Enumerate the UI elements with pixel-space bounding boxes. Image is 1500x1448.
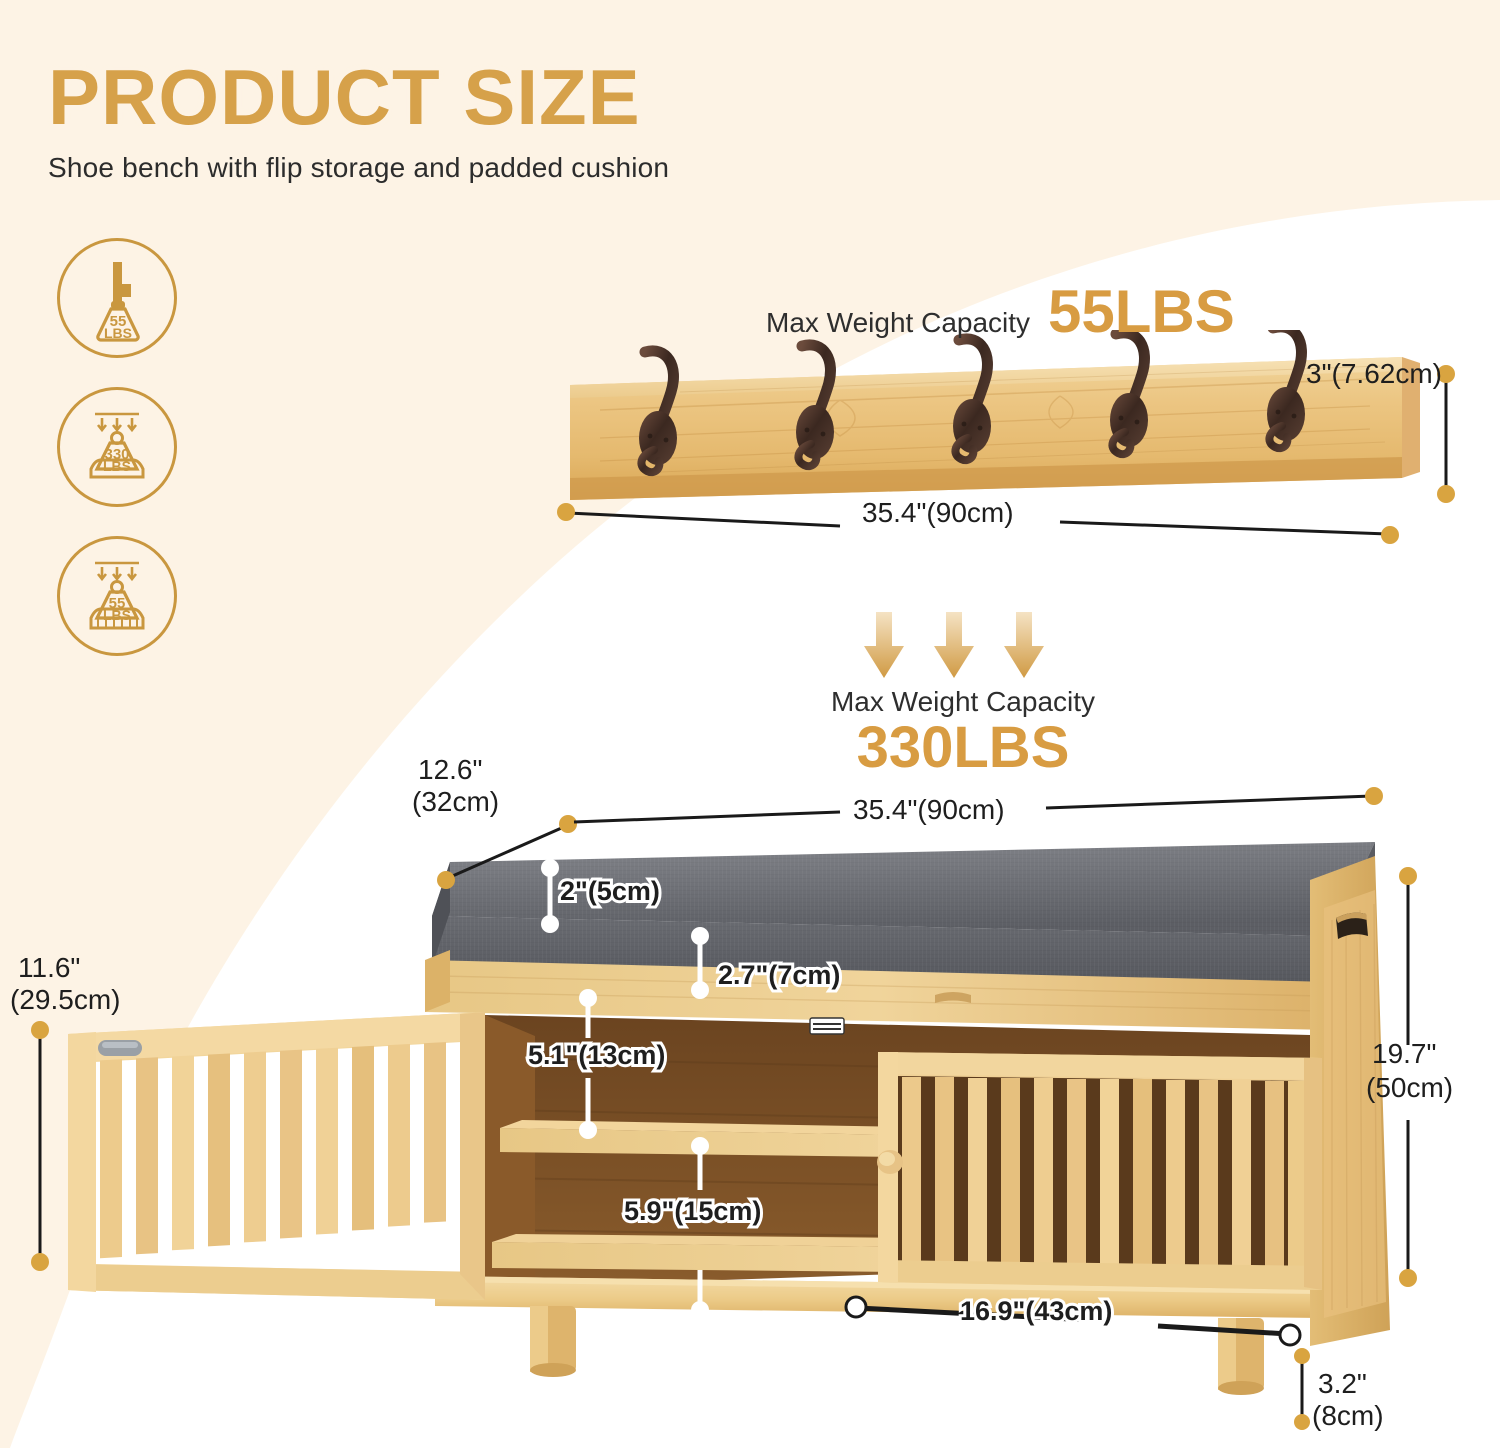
bench-depth-label-line1: 12.6" — [418, 754, 482, 785]
down-arrow-icon — [860, 612, 908, 680]
bench-capacity-badge: 330 LBS — [57, 387, 177, 507]
header-block: PRODUCT SIZE Shoe bench with flip storag… — [48, 58, 669, 184]
capacity-badge-list: 55 LBS 330 LBS — [57, 238, 177, 685]
leg-height-label-line2: (8cm) — [1312, 1400, 1384, 1431]
leg-height-label-line1: 3.2" — [1318, 1368, 1367, 1399]
upper-shelf-gap-label: 5.1"(13cm) — [528, 1040, 665, 1070]
shelf-weight-icon: 55 LBS — [67, 546, 167, 646]
door-height-label-line2: (29.5cm) — [10, 984, 120, 1015]
bench-total-height-label-line1: 19.7" — [1372, 1038, 1436, 1069]
hook-weight-icon: 55 LBS — [67, 248, 167, 348]
svg-text:LBS: LBS — [104, 325, 132, 341]
door-width-label: 16.9"(43cm) — [960, 1296, 1112, 1326]
bench-total-height-label-line2: (50cm) — [1366, 1072, 1453, 1103]
bench-width-label: 35.4"(90cm) — [853, 794, 1005, 825]
hook-rack-width-label: 35.4"(90cm) — [862, 497, 1014, 528]
page-title: PRODUCT SIZE — [48, 58, 669, 138]
infographic-canvas: PRODUCT SIZE Shoe bench with flip storag… — [0, 0, 1500, 1448]
page-subtitle: Shoe bench with flip storage and padded … — [48, 152, 669, 184]
down-arrow-icon — [1000, 612, 1048, 680]
weight-arrows-group — [860, 612, 1048, 680]
hook-capacity-badge: 55 LBS — [57, 238, 177, 358]
lower-shelf-gap-label: 5.9"(15cm) — [624, 1196, 761, 1226]
bench-weight-icon: 330 LBS — [67, 397, 167, 497]
bench-dimension-guides — [0, 760, 1500, 1448]
bench-capacity-label: Max Weight Capacity — [828, 686, 1098, 718]
cushion-thickness-label: 2"(5cm) — [560, 876, 660, 906]
hook-capacity-value: 55LBS — [1048, 277, 1235, 346]
drawer-height-label: 2.7"(7cm) — [718, 960, 840, 990]
bench-depth-label-line2: (32cm) — [412, 786, 499, 817]
hook-rack-height-label: 3"(7.62cm) — [1306, 358, 1442, 389]
shelf-capacity-badge: 55 LBS — [57, 536, 177, 656]
door-height-label-line1: 11.6" — [18, 952, 80, 983]
svg-text:LBS: LBS — [103, 607, 131, 623]
svg-text:LBS: LBS — [103, 458, 131, 474]
down-arrow-icon — [930, 612, 978, 680]
hook-capacity-headline: Max Weight Capacity 55LBS — [766, 277, 1235, 346]
hook-capacity-label: Max Weight Capacity — [766, 307, 1030, 339]
